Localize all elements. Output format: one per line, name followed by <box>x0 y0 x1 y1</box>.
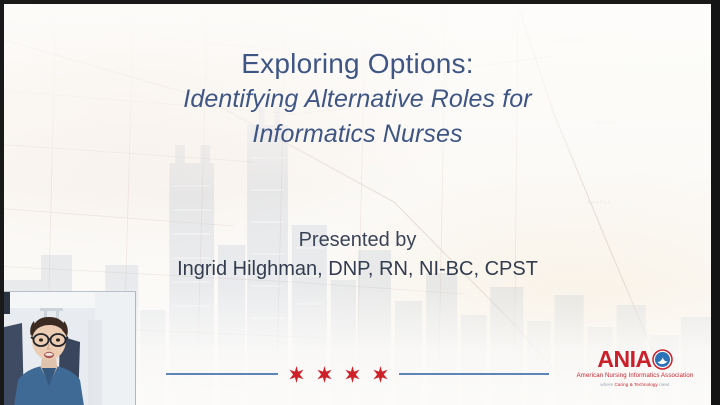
slide-title-main: Exploring Options: <box>4 46 711 82</box>
slide-subtitle-line-2: Informatics Nurses <box>4 117 711 152</box>
six-point-star-icon <box>344 366 361 383</box>
tagline-prefix: where <box>600 382 614 387</box>
letterbox-bar-top <box>0 0 720 4</box>
ania-logo-subtitle: American Nursing Informatics Association <box>575 372 695 381</box>
presenter-name: Ingrid Hilghman, DNP, RN, NI-BC, CPST <box>4 254 711 284</box>
ania-logo-tagline: where Caring & Technology meet <box>575 381 695 388</box>
six-point-star-icon <box>372 366 389 383</box>
ania-wordmark: ANIA <box>597 348 651 371</box>
chicago-stars-group <box>288 366 389 383</box>
ania-circle-emblem-icon <box>652 349 673 370</box>
tagline-suffix: meet <box>658 382 670 387</box>
video-player-frame: W Chicago Ave N Michigan Lake Shore Dr N… <box>0 0 720 405</box>
presenter-block: Presented by Ingrid Hilghman, DNP, RN, N… <box>4 226 711 284</box>
six-point-star-icon <box>316 366 333 383</box>
divider-line-right <box>399 373 549 375</box>
six-point-star-icon <box>288 366 305 383</box>
presenter-video-thumbnail[interactable] <box>0 291 136 405</box>
presented-by-label: Presented by <box>4 226 711 254</box>
ania-logo-top-row: ANIA <box>575 348 695 371</box>
letterbox-bar-right <box>711 0 720 405</box>
slide-subtitle-line-1: Identifying Alternative Roles for <box>4 82 711 117</box>
tagline-accent: Caring & Technology <box>615 382 658 387</box>
ania-logo: ANIA American Nursing Informatics Associ… <box>575 348 695 388</box>
divider-line-left <box>166 373 278 375</box>
slide-title-block: Exploring Options: Identifying Alternati… <box>4 46 711 152</box>
letterbox-bar-left <box>0 0 4 405</box>
